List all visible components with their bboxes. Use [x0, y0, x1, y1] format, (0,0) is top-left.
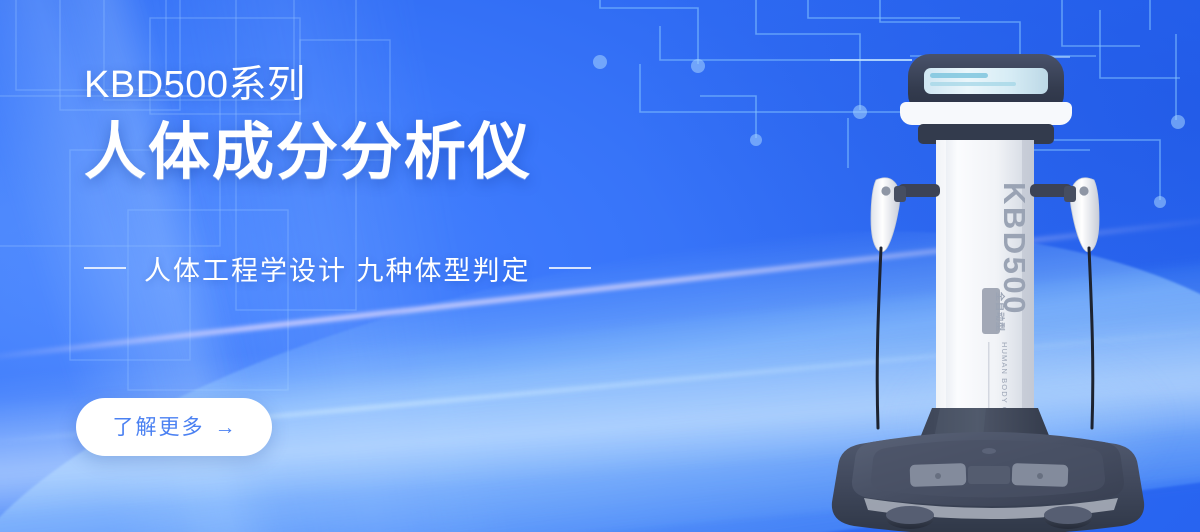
hero-subtitle-row: 人体工程学设计 九种体型判定	[84, 249, 704, 288]
device-model-badge: 全自动型	[995, 291, 1006, 332]
dash-left-icon	[84, 267, 126, 269]
hero-eyebrow: KBD500系列	[84, 66, 704, 106]
hero-copy: KBD500系列 人体成分分析仪 人体工程学设计 九种体型判定	[84, 66, 704, 288]
hero-headline: 人体成分分析仪	[84, 120, 704, 187]
dash-right-icon	[549, 267, 591, 269]
hero-subtitle: 人体工程学设计 九种体型判定	[144, 249, 531, 288]
learn-more-label: 了解更多	[113, 417, 205, 438]
hero-banner: KBD500 全自动型 HUMAN BODY COMPOSITION ANALY…	[0, 0, 1200, 532]
electrode-cable	[877, 248, 881, 428]
device-base-platform	[832, 432, 1144, 532]
device-display-head	[900, 54, 1072, 144]
device-svg: KBD500 全自动型 HUMAN BODY COMPOSITION ANALY…	[790, 36, 1170, 532]
product-device-illustration: KBD500 全自动型 HUMAN BODY COMPOSITION ANALY…	[790, 36, 1170, 532]
electrode-cable	[1089, 248, 1093, 428]
learn-more-button[interactable]: 了解更多 →	[76, 398, 272, 456]
arrow-right-icon: →	[215, 417, 236, 438]
device-screen	[924, 68, 1048, 94]
